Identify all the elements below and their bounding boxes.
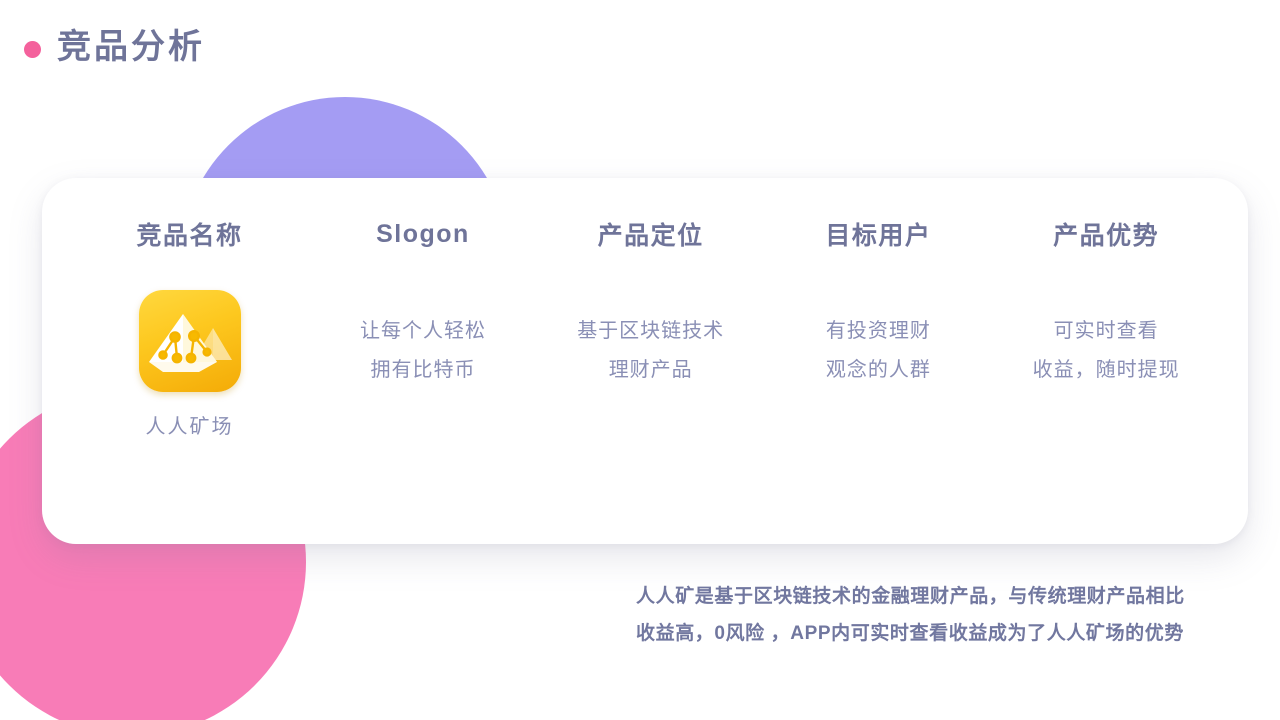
table-row: 人人矿场 bbox=[70, 290, 309, 544]
summary-line-2: 收益高，0风险 ，APP内可实时查看收益成为了人人矿场的优势 bbox=[636, 615, 1256, 652]
cell-line: 观念的人群 bbox=[826, 351, 931, 390]
cell-line: 基于区块链技术 bbox=[577, 312, 724, 351]
column-header-positioning: 产品定位 bbox=[537, 178, 765, 290]
cell-line: 理财产品 bbox=[609, 351, 693, 390]
page-title-row: 竞品分析 bbox=[24, 30, 205, 64]
cell-line: 有投资理财 bbox=[826, 312, 931, 351]
cell-target-users: 有投资理财 观念的人群 bbox=[765, 290, 993, 544]
column-header-advantage: 产品优势 bbox=[992, 178, 1220, 290]
column-header-target: 目标用户 bbox=[765, 178, 993, 290]
cell-line: 拥有比特币 bbox=[370, 351, 475, 390]
cell-line: 让每个人轻松 bbox=[360, 312, 486, 351]
comparison-table: 竞品名称 Slogon 产品定位 目标用户 产品优势 bbox=[42, 178, 1248, 544]
pyramid-network-icon bbox=[139, 290, 241, 392]
cell-slogon: 让每个人轻松 拥有比特币 bbox=[309, 290, 537, 544]
cell-positioning: 基于区块链技术 理财产品 bbox=[537, 290, 765, 544]
comparison-card: 竞品名称 Slogon 产品定位 目标用户 产品优势 bbox=[42, 178, 1248, 544]
summary-line-1: 人人矿是基于区块链技术的金融理财产品，与传统理财产品相比 bbox=[636, 578, 1256, 615]
product-name: 人人矿场 bbox=[146, 408, 234, 447]
page-title: 竞品分析 bbox=[57, 30, 205, 64]
column-header-name: 竞品名称 bbox=[70, 178, 309, 290]
cell-line: 可实时查看 bbox=[1054, 312, 1159, 351]
cell-advantages: 可实时查看 收益，随时提现 bbox=[992, 290, 1220, 544]
slide-canvas: 竞品分析 竞品名称 Slogon 产品定位 目标用户 产品优势 bbox=[0, 0, 1280, 720]
cell-line: 收益，随时提现 bbox=[1033, 351, 1180, 390]
summary-paragraph: 人人矿是基于区块链技术的金融理财产品，与传统理财产品相比 收益高，0风险 ，AP… bbox=[636, 578, 1256, 652]
dot-icon bbox=[24, 41, 41, 58]
column-header-slogon: Slogon bbox=[309, 178, 537, 290]
